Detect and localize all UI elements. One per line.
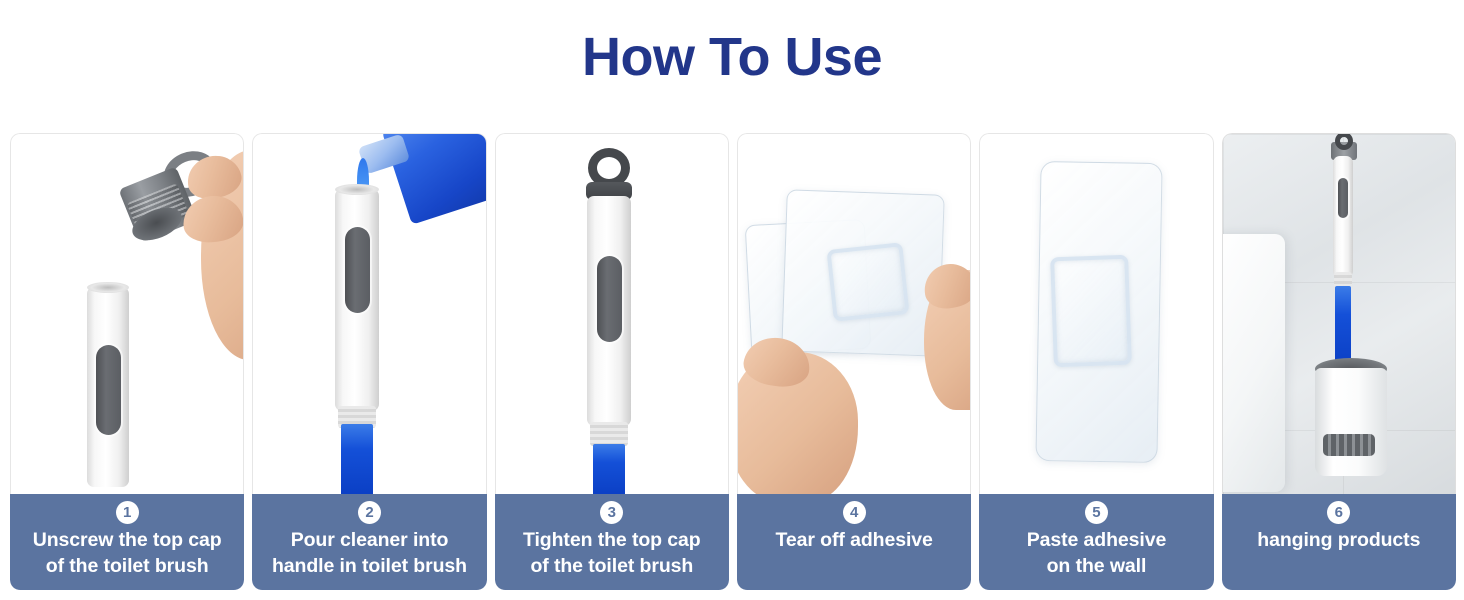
step-caption-text-6: hanging products <box>1251 528 1426 554</box>
step-caption-text-4: Tear off adhesive <box>770 528 939 554</box>
illustration-tear-off-adhesive <box>738 134 970 494</box>
handle-rim <box>87 282 129 293</box>
step-image-3 <box>495 133 729 494</box>
adhesive-hook-bracket <box>1050 255 1132 368</box>
blue-liquid <box>1335 286 1351 368</box>
step-caption-text-1: Unscrew the top cap of the toilet brush <box>27 528 228 579</box>
holder-vents <box>1323 434 1375 456</box>
how-to-use-infographic: How To Use <box>0 0 1464 600</box>
illustration-hanging-product <box>1223 134 1455 494</box>
step-caption-1: 1 Unscrew the top cap of the toilet brus… <box>10 494 244 590</box>
step-caption-2: 2 Pour cleaner into handle in toilet bru… <box>252 494 486 590</box>
step-caption-text-3: Tighten the top cap of the toilet brush <box>517 528 707 579</box>
step-image-2 <box>252 133 486 494</box>
handle-grip <box>345 227 370 313</box>
step-caption-4: 4 Tear off adhesive <box>737 494 971 590</box>
adhesive-hook-bracket <box>826 242 909 322</box>
step-card-5[interactable]: 5 Paste adhesive on the wall <box>979 133 1213 590</box>
step-caption-text-2: Pour cleaner into handle in toilet brush <box>266 528 473 579</box>
toilet-cistern <box>1222 234 1285 492</box>
handle-grip <box>96 345 121 435</box>
step-card-1[interactable]: 1 Unscrew the top cap of the toilet brus… <box>10 133 244 590</box>
brush-handle <box>87 287 129 487</box>
step-badge-5: 5 <box>1085 501 1108 524</box>
step-caption-5: 5 Paste adhesive on the wall <box>979 494 1213 590</box>
brush-handle <box>587 196 631 426</box>
page-title: How To Use <box>0 28 1464 87</box>
step-image-4 <box>737 133 971 494</box>
step-card-3[interactable]: 3 Tighten the top cap of the toilet brus… <box>495 133 729 590</box>
illustration-pour-cleaner <box>253 134 485 494</box>
thread-collar <box>590 422 628 446</box>
blue-liquid <box>341 424 373 494</box>
brush-handle <box>335 189 379 411</box>
holder-cup <box>1315 368 1387 476</box>
step-badge-6: 6 <box>1327 501 1350 524</box>
blue-liquid <box>593 444 625 494</box>
handle-grip <box>597 256 622 342</box>
step-card-2[interactable]: 2 Pour cleaner into handle in toilet bru… <box>252 133 486 590</box>
step-image-1 <box>10 133 244 494</box>
step-caption-6: 6 hanging products <box>1222 494 1456 590</box>
illustration-paste-adhesive-on-wall <box>980 134 1212 494</box>
handle-grip <box>1338 178 1348 218</box>
handle-rim <box>335 184 379 195</box>
step-card-4[interactable]: 4 Tear off adhesive <box>737 133 971 590</box>
step-badge-2: 2 <box>358 501 381 524</box>
illustration-unscrew-cap <box>11 134 243 494</box>
step-badge-1: 1 <box>116 501 139 524</box>
step-image-6 <box>1222 133 1456 494</box>
illustration-tighten-cap <box>496 134 728 494</box>
brush-hanging-ring <box>1335 133 1353 150</box>
brush-handle <box>1333 156 1353 278</box>
steps-row: 1 Unscrew the top cap of the toilet brus… <box>10 133 1456 590</box>
step-card-6[interactable]: 6 hanging products <box>1222 133 1456 590</box>
step-image-5 <box>979 133 1213 494</box>
step-caption-3: 3 Tighten the top cap of the toilet brus… <box>495 494 729 590</box>
step-badge-4: 4 <box>843 501 866 524</box>
step-caption-text-5: Paste adhesive on the wall <box>1021 528 1173 579</box>
step-badge-3: 3 <box>600 501 623 524</box>
